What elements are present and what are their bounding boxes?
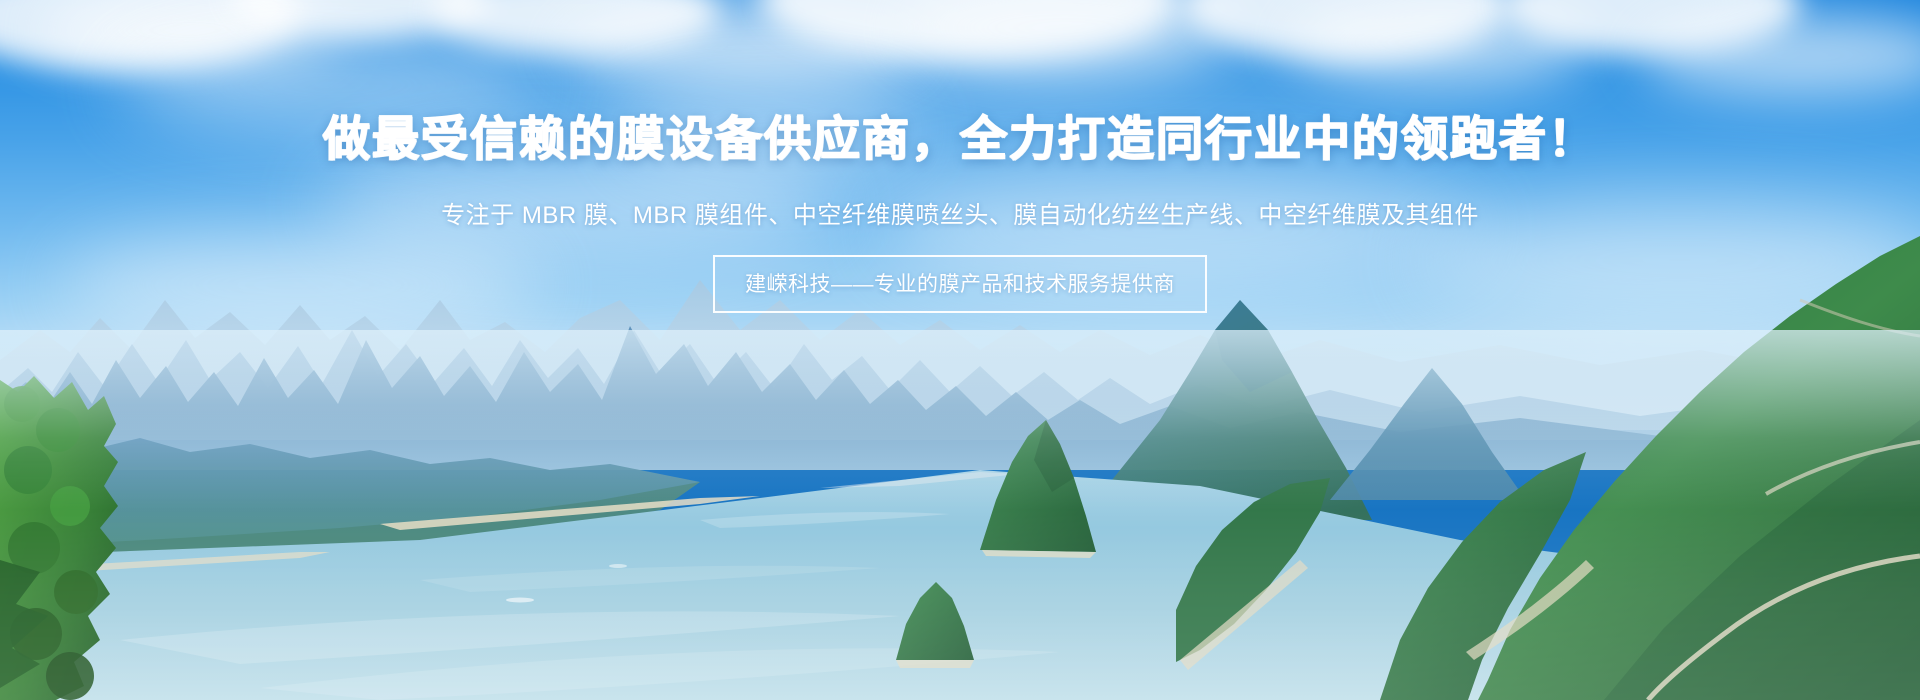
- banner-tagline-box: 建嵘科技——专业的膜产品和技术服务提供商: [713, 255, 1207, 313]
- banner-headline: 做最受信赖的膜设备供应商，全力打造同行业中的领跑者！: [323, 100, 1597, 169]
- banner-subline: 专注于 MBR 膜、MBR 膜组件、中空纤维膜喷丝头、膜自动化纺丝生产线、中空纤…: [441, 195, 1479, 230]
- hero-banner: 做最受信赖的膜设备供应商，全力打造同行业中的领跑者！ 专注于 MBR 膜、MBR…: [0, 0, 1920, 700]
